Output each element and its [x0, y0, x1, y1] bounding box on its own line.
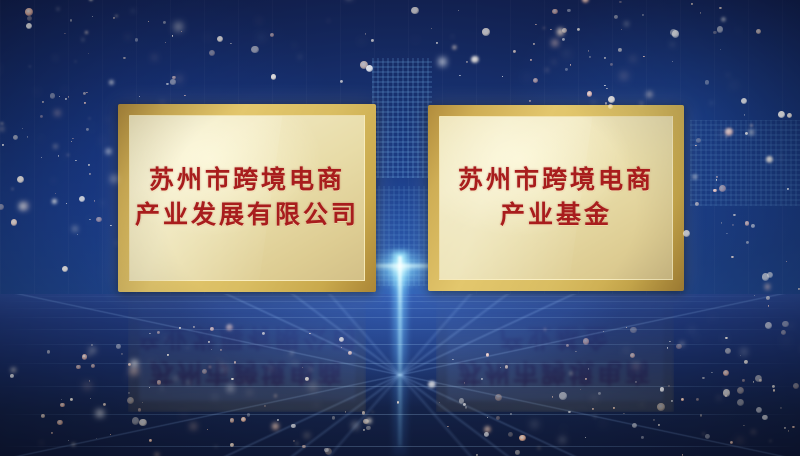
company-plaque[interactable]: 苏州市跨境电商 产业发展有限公司	[118, 104, 376, 292]
led-screen-right	[690, 120, 800, 206]
fund-plaque-panel: 苏州市跨境电商 产业基金	[439, 116, 673, 280]
company-plaque-line-1: 苏州市跨境电商	[149, 163, 345, 199]
fund-plaque-line-1: 苏州市跨境电商	[458, 163, 654, 199]
company-plaque-line-2: 产业发展有限公司	[135, 198, 359, 234]
center-lens-flare	[368, 246, 432, 290]
company-plaque-panel: 苏州市跨境电商 产业发展有限公司	[129, 115, 365, 281]
fund-plaque-line-2: 产业基金	[500, 198, 612, 234]
ceremony-scene: 苏州市跨境电商 产业发展有限公司 苏州市跨境电商 产业基金 苏州市跨境电商 产业…	[0, 0, 800, 456]
led-screen-center	[372, 58, 432, 178]
fund-plaque[interactable]: 苏州市跨境电商 产业基金	[428, 105, 684, 291]
